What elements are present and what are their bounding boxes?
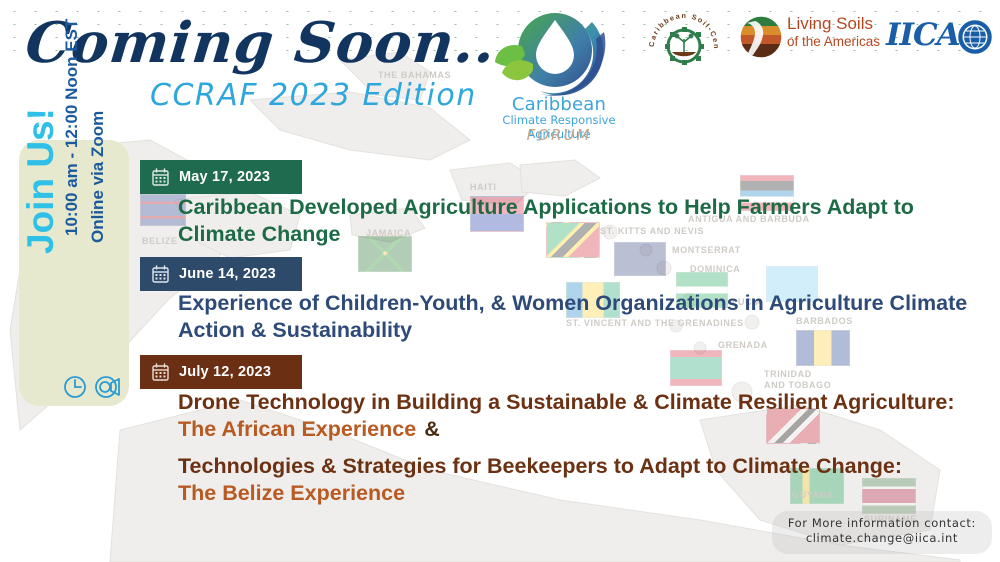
date-label: July 12, 2023 (179, 364, 271, 380)
calendar-icon (152, 363, 169, 381)
session-title-4: Technologies & Strategies for Beekeepers… (178, 453, 988, 506)
logo-row: Caribbean Climate Responsive Agriculture… (474, 4, 994, 144)
ccraf-mark-icon (492, 6, 622, 98)
join-us-time: 10:00 am - 12:00 Noon EST (62, 16, 82, 236)
join-us-title: Join Us! (20, 44, 62, 254)
map-label: TRINIDAD (764, 369, 812, 379)
living-soils-line2: of the Americas (787, 34, 880, 49)
session-title-3: Drone Technology in Building a Sustainab… (178, 389, 988, 442)
session-conjunction: & (416, 417, 440, 441)
session-3-main-title: Drone Technology in Building a Sustainab… (178, 389, 988, 416)
map-label: HAITI (470, 182, 497, 192)
join-us-icons (62, 373, 122, 401)
ccraf-logo-line3: FORUM (474, 126, 644, 144)
zoom-camera-icon (96, 377, 119, 397)
date-label: May 17, 2023 (179, 169, 270, 185)
join-us-mode: Online via Zoom (88, 58, 108, 243)
flag-grenada (670, 350, 722, 386)
session-4-main-title: Technologies & Strategies for Beekeepers… (178, 453, 988, 480)
contact-info: For More information contact: climate.ch… (772, 511, 992, 554)
ccraf-logo: Caribbean Climate Responsive Agriculture… (474, 6, 644, 146)
date-badge-july[interactable]: July 12, 2023 (140, 355, 302, 389)
poster-canvas: THE BAHAMAS HAITI BELIZE JAMAICA ST. KIT… (0, 0, 1000, 562)
iica-logo: IICA (886, 18, 992, 60)
iica-wordmark: IICA (886, 17, 960, 53)
calendar-icon (152, 168, 169, 186)
session-4-subtitle: The Belize Experience (178, 480, 988, 507)
contact-email[interactable]: climate.change@iica.int (788, 531, 976, 547)
contact-line1: For More information contact: (788, 516, 976, 532)
date-badge-june[interactable]: June 14, 2023 (140, 257, 302, 291)
date-label: June 14, 2023 (179, 266, 276, 282)
map-label: DOMINICA (690, 264, 740, 274)
living-soils-line1: Living Soils (787, 14, 873, 34)
caribbean-soil-centric-actions-logo: Caribbean Soil-Centric Actions (642, 8, 730, 70)
date-badge-may[interactable]: May 17, 2023 (140, 160, 302, 194)
iica-globe-icon (958, 20, 992, 54)
calendar-icon (152, 265, 169, 283)
living-soils-logo: Living Soils of the Americas (739, 14, 899, 62)
session-title-1: Caribbean Developed Agriculture Applicat… (178, 194, 978, 247)
session-3-subtitle: The African Experience (178, 417, 416, 441)
living-soils-mark-icon (739, 15, 783, 59)
session-title-2: Experience of Children-Youth, & Women Or… (178, 290, 978, 343)
clock-icon (65, 377, 85, 397)
edition-subtitle: CCRAF 2023 Edition (150, 78, 477, 113)
ccraf-logo-line1: Caribbean (474, 94, 644, 115)
map-label: BELIZE (142, 236, 178, 246)
